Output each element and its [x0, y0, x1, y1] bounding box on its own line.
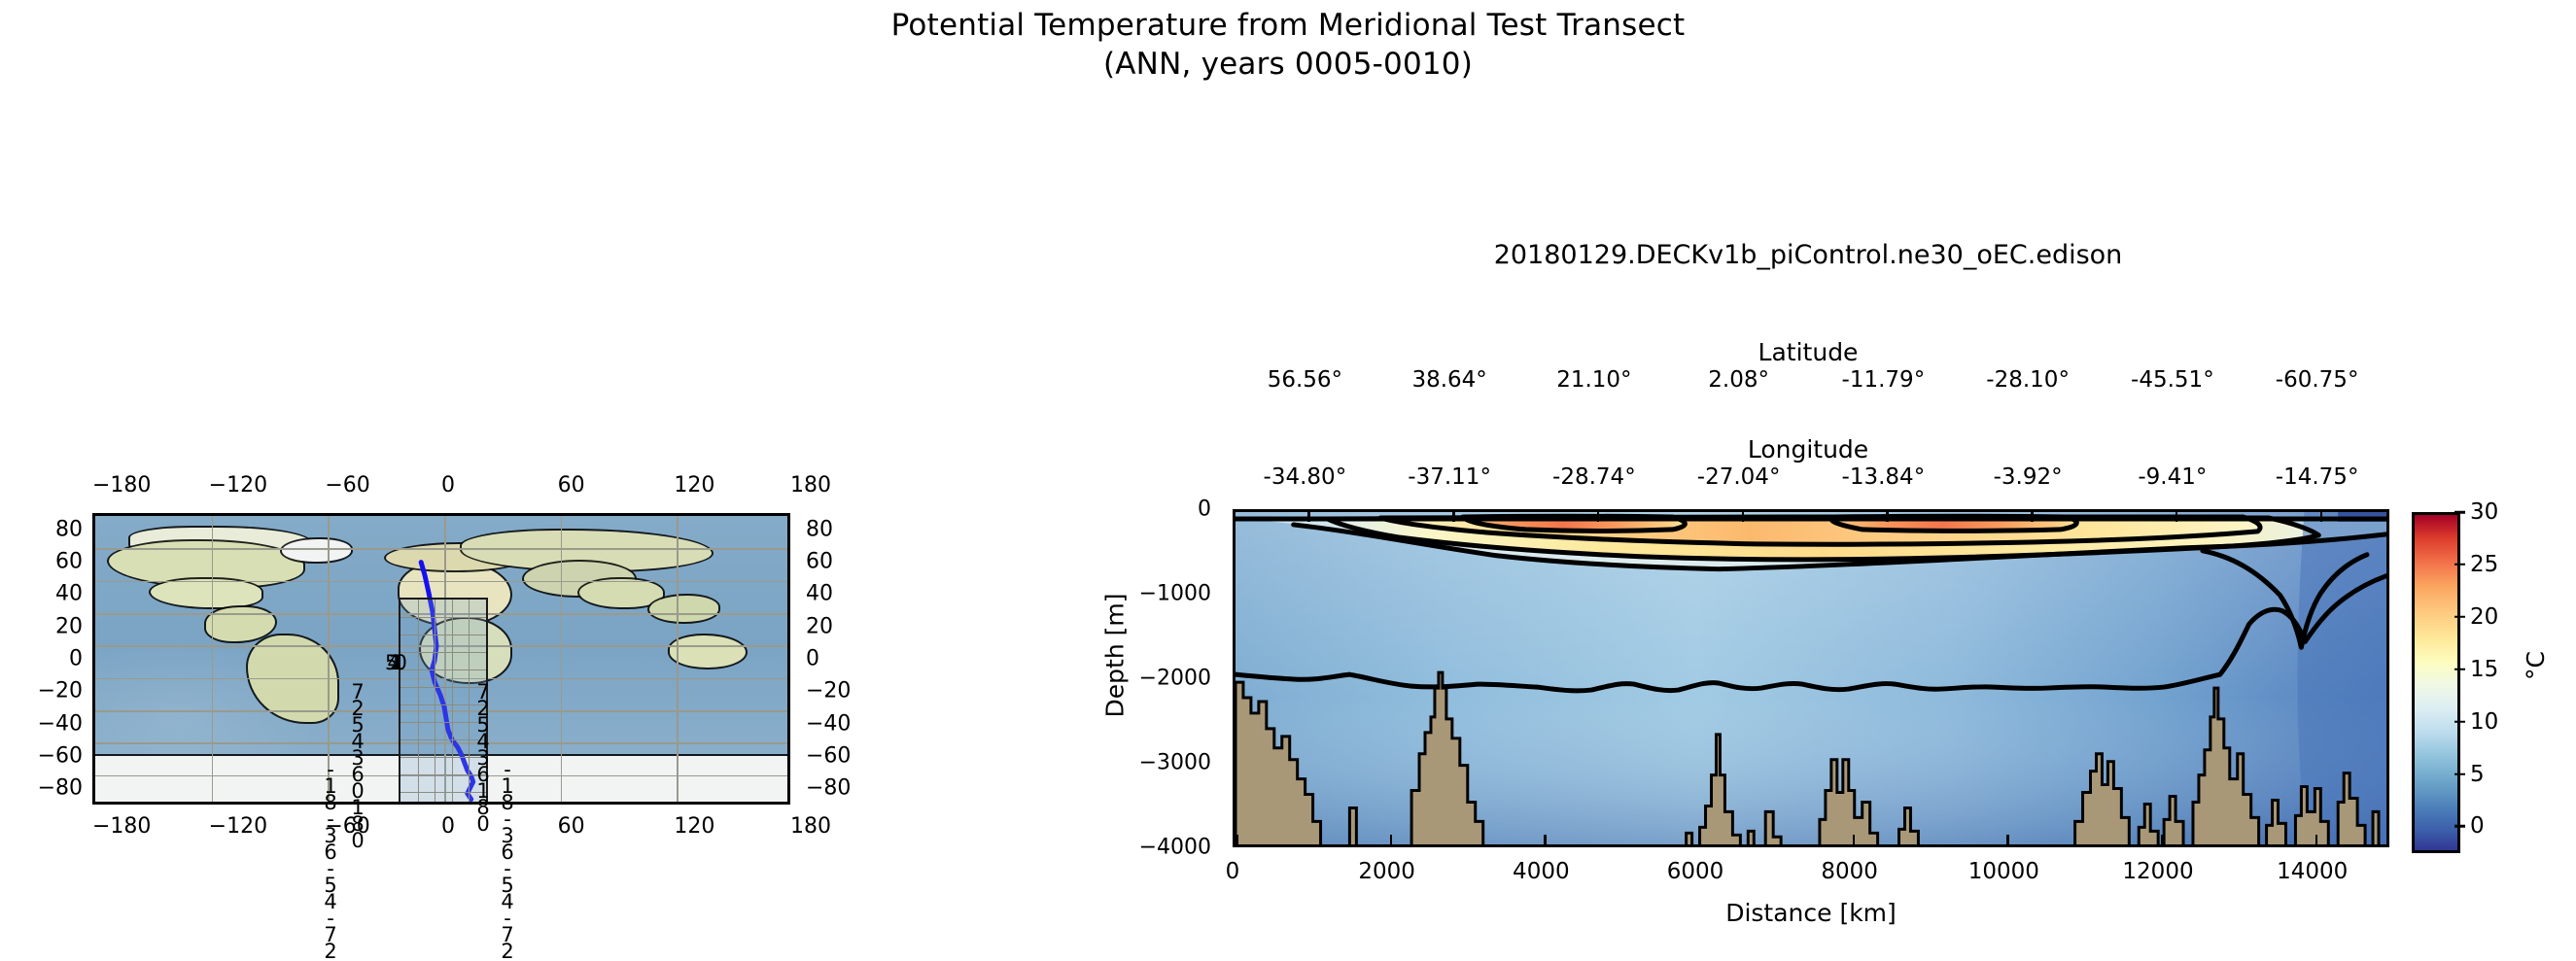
map-yaxis-right-tick: −80 [806, 776, 851, 801]
depth-tick: 0 [1198, 498, 1211, 522]
axis-tickmark [2315, 835, 2318, 845]
inset-overlap-labels-left: 7254360180 [348, 680, 366, 845]
suptitle-line-2: (ANN, years 0005-0010) [0, 45, 2576, 84]
inset-graticule-meridian [435, 600, 435, 805]
inset-overlap-labels-lower-left: -18-36-54-72 [321, 758, 339, 956]
map-yaxis-left-tick: 20 [55, 614, 83, 638]
axis-tickmark [1452, 511, 1455, 522]
axis-tickmark [1307, 511, 1310, 522]
distance-axis-label: Distance [km] [1233, 899, 2389, 927]
latitude-tick: -45.51° [2131, 367, 2214, 393]
depth-axis-label-wrap: Depth [m] [1079, 0, 1118, 961]
axis-tickmark [2031, 511, 2034, 522]
latitude-tick: 21.10° [1556, 367, 1631, 393]
longitude-tick: -27.04° [1697, 464, 1781, 490]
depth-axis-label: Depth [m] [1101, 559, 1130, 753]
colorbar-tickmark [2454, 668, 2465, 670]
map-yaxis-right-tick: 40 [806, 582, 833, 606]
colorbar-tick: 5 [2470, 762, 2485, 787]
inset-graticule-parallel [400, 617, 486, 618]
axis-tickmark [1233, 766, 1236, 769]
map-yaxis-right-tick: 60 [806, 550, 833, 574]
map-axes [92, 513, 790, 805]
map-yaxis-right-tick: 20 [806, 614, 833, 638]
axis-tickmark [1233, 597, 1236, 600]
axis-tickmark [1853, 835, 1856, 845]
suptitle-line-1: Potential Temperature from Meridional Te… [891, 8, 1686, 43]
latitude-axis-label: Latitude [1205, 338, 2411, 366]
colorbar-tickmark [2454, 772, 2465, 775]
map-yaxis-right-tick: −40 [806, 711, 851, 736]
longitude-tick: -28.74° [1552, 464, 1636, 490]
depth-tick: −2000 [1139, 667, 1211, 691]
map-yaxis-right-tick: −60 [806, 744, 851, 769]
colorbar-tick: 0 [2470, 813, 2485, 839]
axis-tickmark [1698, 835, 1701, 845]
map-yaxis-left-tick: 0 [69, 647, 83, 671]
latitude-tick: -11.79° [1842, 367, 1926, 393]
map-yaxis-left-tick: 80 [55, 517, 83, 541]
map-yaxis-right-tick: 80 [806, 517, 833, 541]
axis-tickmark [1236, 835, 1238, 845]
map-yaxis-left-tick: −20 [38, 679, 83, 704]
colorbar-tick: 25 [2470, 552, 2498, 577]
map-yaxis-right-tick: −20 [806, 679, 851, 704]
inset-overlap-labels-lower-right: -18-36-54-72 [498, 758, 516, 956]
transect-section-plot [1236, 512, 2386, 847]
longitude-tick: -34.80° [1264, 464, 1347, 490]
distance-tick: 6000 [1667, 859, 1724, 884]
colorbar-tickmark [2454, 720, 2465, 723]
inset-graticule-meridian [452, 600, 453, 805]
longitude-axis-label: Longitude [1205, 435, 2411, 463]
inset-graticule-parallel [400, 652, 486, 653]
inset-graticule-meridian [469, 600, 470, 805]
map-yaxis-left-ticks: 806040200−20−40−60−80 [0, 513, 83, 805]
temperature-colorbar[interactable] [2412, 512, 2460, 853]
axis-tickmark [1233, 512, 1236, 515]
axis-tickmark [2320, 511, 2323, 522]
map-yaxis-left-tick: −40 [38, 711, 83, 736]
map-yaxis-left-tick: 60 [55, 550, 83, 574]
figure-suptitle: Potential Temperature from Meridional Te… [0, 6, 2576, 84]
colorbar-tick: 20 [2470, 604, 2498, 630]
colorbar-tickmark [2454, 616, 2465, 619]
distance-tick: 14000 [2277, 859, 2348, 884]
longitude-tick: -3.92° [1994, 464, 2063, 490]
axis-tickmark [2161, 835, 2164, 845]
transect-axes [1233, 509, 2389, 847]
latitude-tick: 2.08° [1708, 367, 1769, 393]
distance-tick: 2000 [1358, 859, 1415, 884]
longitude-tick: -13.84° [1842, 464, 1926, 490]
axis-tickmark [1597, 511, 1600, 522]
inset-overlap-labels-right: 725436180 [473, 680, 492, 829]
axis-tickmark [1390, 835, 1393, 845]
inset-graticule-meridian [418, 600, 419, 805]
colorbar-tickmark [2454, 825, 2465, 828]
axis-tickmark [2006, 835, 2009, 845]
axis-tickmark [2176, 511, 2178, 522]
axis-tickmark [1544, 835, 1547, 845]
axis-tickmark [1233, 681, 1236, 684]
axis-tickmark [1886, 511, 1889, 522]
latitude-tick-labels: 56.56°38.64°21.10°2.08°-11.79°-28.10°-45… [1233, 367, 2389, 396]
colorbar-tick: 30 [2470, 499, 2498, 525]
inset-graticule-parallel [400, 635, 486, 635]
depth-tick: −4000 [1139, 836, 1211, 860]
latitude-tick: -60.75° [2276, 367, 2359, 393]
distance-tick-labels: 02000400060008000100001200014000 [1233, 859, 2389, 888]
longitude-tick: -9.41° [2138, 464, 2207, 490]
colorbar-tick-labels: 051015202530 [2454, 512, 2571, 847]
longitude-tick: -14.75° [2276, 464, 2359, 490]
colorbar-tick: 15 [2470, 657, 2498, 682]
distance-tick: 8000 [1821, 859, 1878, 884]
world-map-panel[interactable] [92, 513, 790, 805]
distance-tick: 12000 [2122, 859, 2193, 884]
map-yaxis-left-tick: −80 [38, 776, 83, 801]
transect-panel[interactable] [1233, 509, 2389, 847]
inset-graticule-parallel [400, 669, 486, 670]
longitude-tick-labels: -34.80°-37.11°-28.74°-27.04°-13.84°-3.92… [1233, 464, 2389, 494]
latitude-tick: -28.10° [1986, 367, 2070, 393]
distance-tick: 0 [1226, 859, 1240, 884]
depth-tick: −3000 [1139, 751, 1211, 775]
colorbar-tick: 10 [2470, 709, 2498, 735]
colorbar-tickmark [2454, 511, 2465, 514]
distance-tick: 10000 [1968, 859, 2039, 884]
colorbar-tickmark [2454, 564, 2465, 566]
map-yaxis-left-tick: −60 [38, 744, 83, 769]
transect-panel-title: 20180129.DECKv1b_piControl.ne30_oEC.edis… [1205, 240, 2411, 270]
colorbar-unit-label: °C [2522, 651, 2550, 680]
distance-tick: 4000 [1513, 859, 1570, 884]
latitude-tick: 56.56° [1268, 367, 1342, 393]
map-xaxis-bottom-ticks: −180−120−60060120180 [92, 814, 790, 840]
map-yaxis-right-tick: 0 [806, 647, 819, 671]
map-xaxis-top-ticks: −180−120−60060120180 [92, 473, 790, 498]
figure-canvas: Potential Temperature from Meridional Te… [0, 0, 2576, 961]
longitude-tick: -37.11° [1408, 464, 1491, 490]
inset-overlap-labels-row: 54210 [385, 654, 397, 672]
depth-tick: −1000 [1139, 582, 1211, 606]
axis-tickmark [1742, 511, 1745, 522]
map-yaxis-right-ticks: 806040200−20−40−60−80 [798, 513, 881, 805]
latitude-tick: 38.64° [1411, 367, 1486, 393]
map-yaxis-left-tick: 40 [55, 582, 83, 606]
